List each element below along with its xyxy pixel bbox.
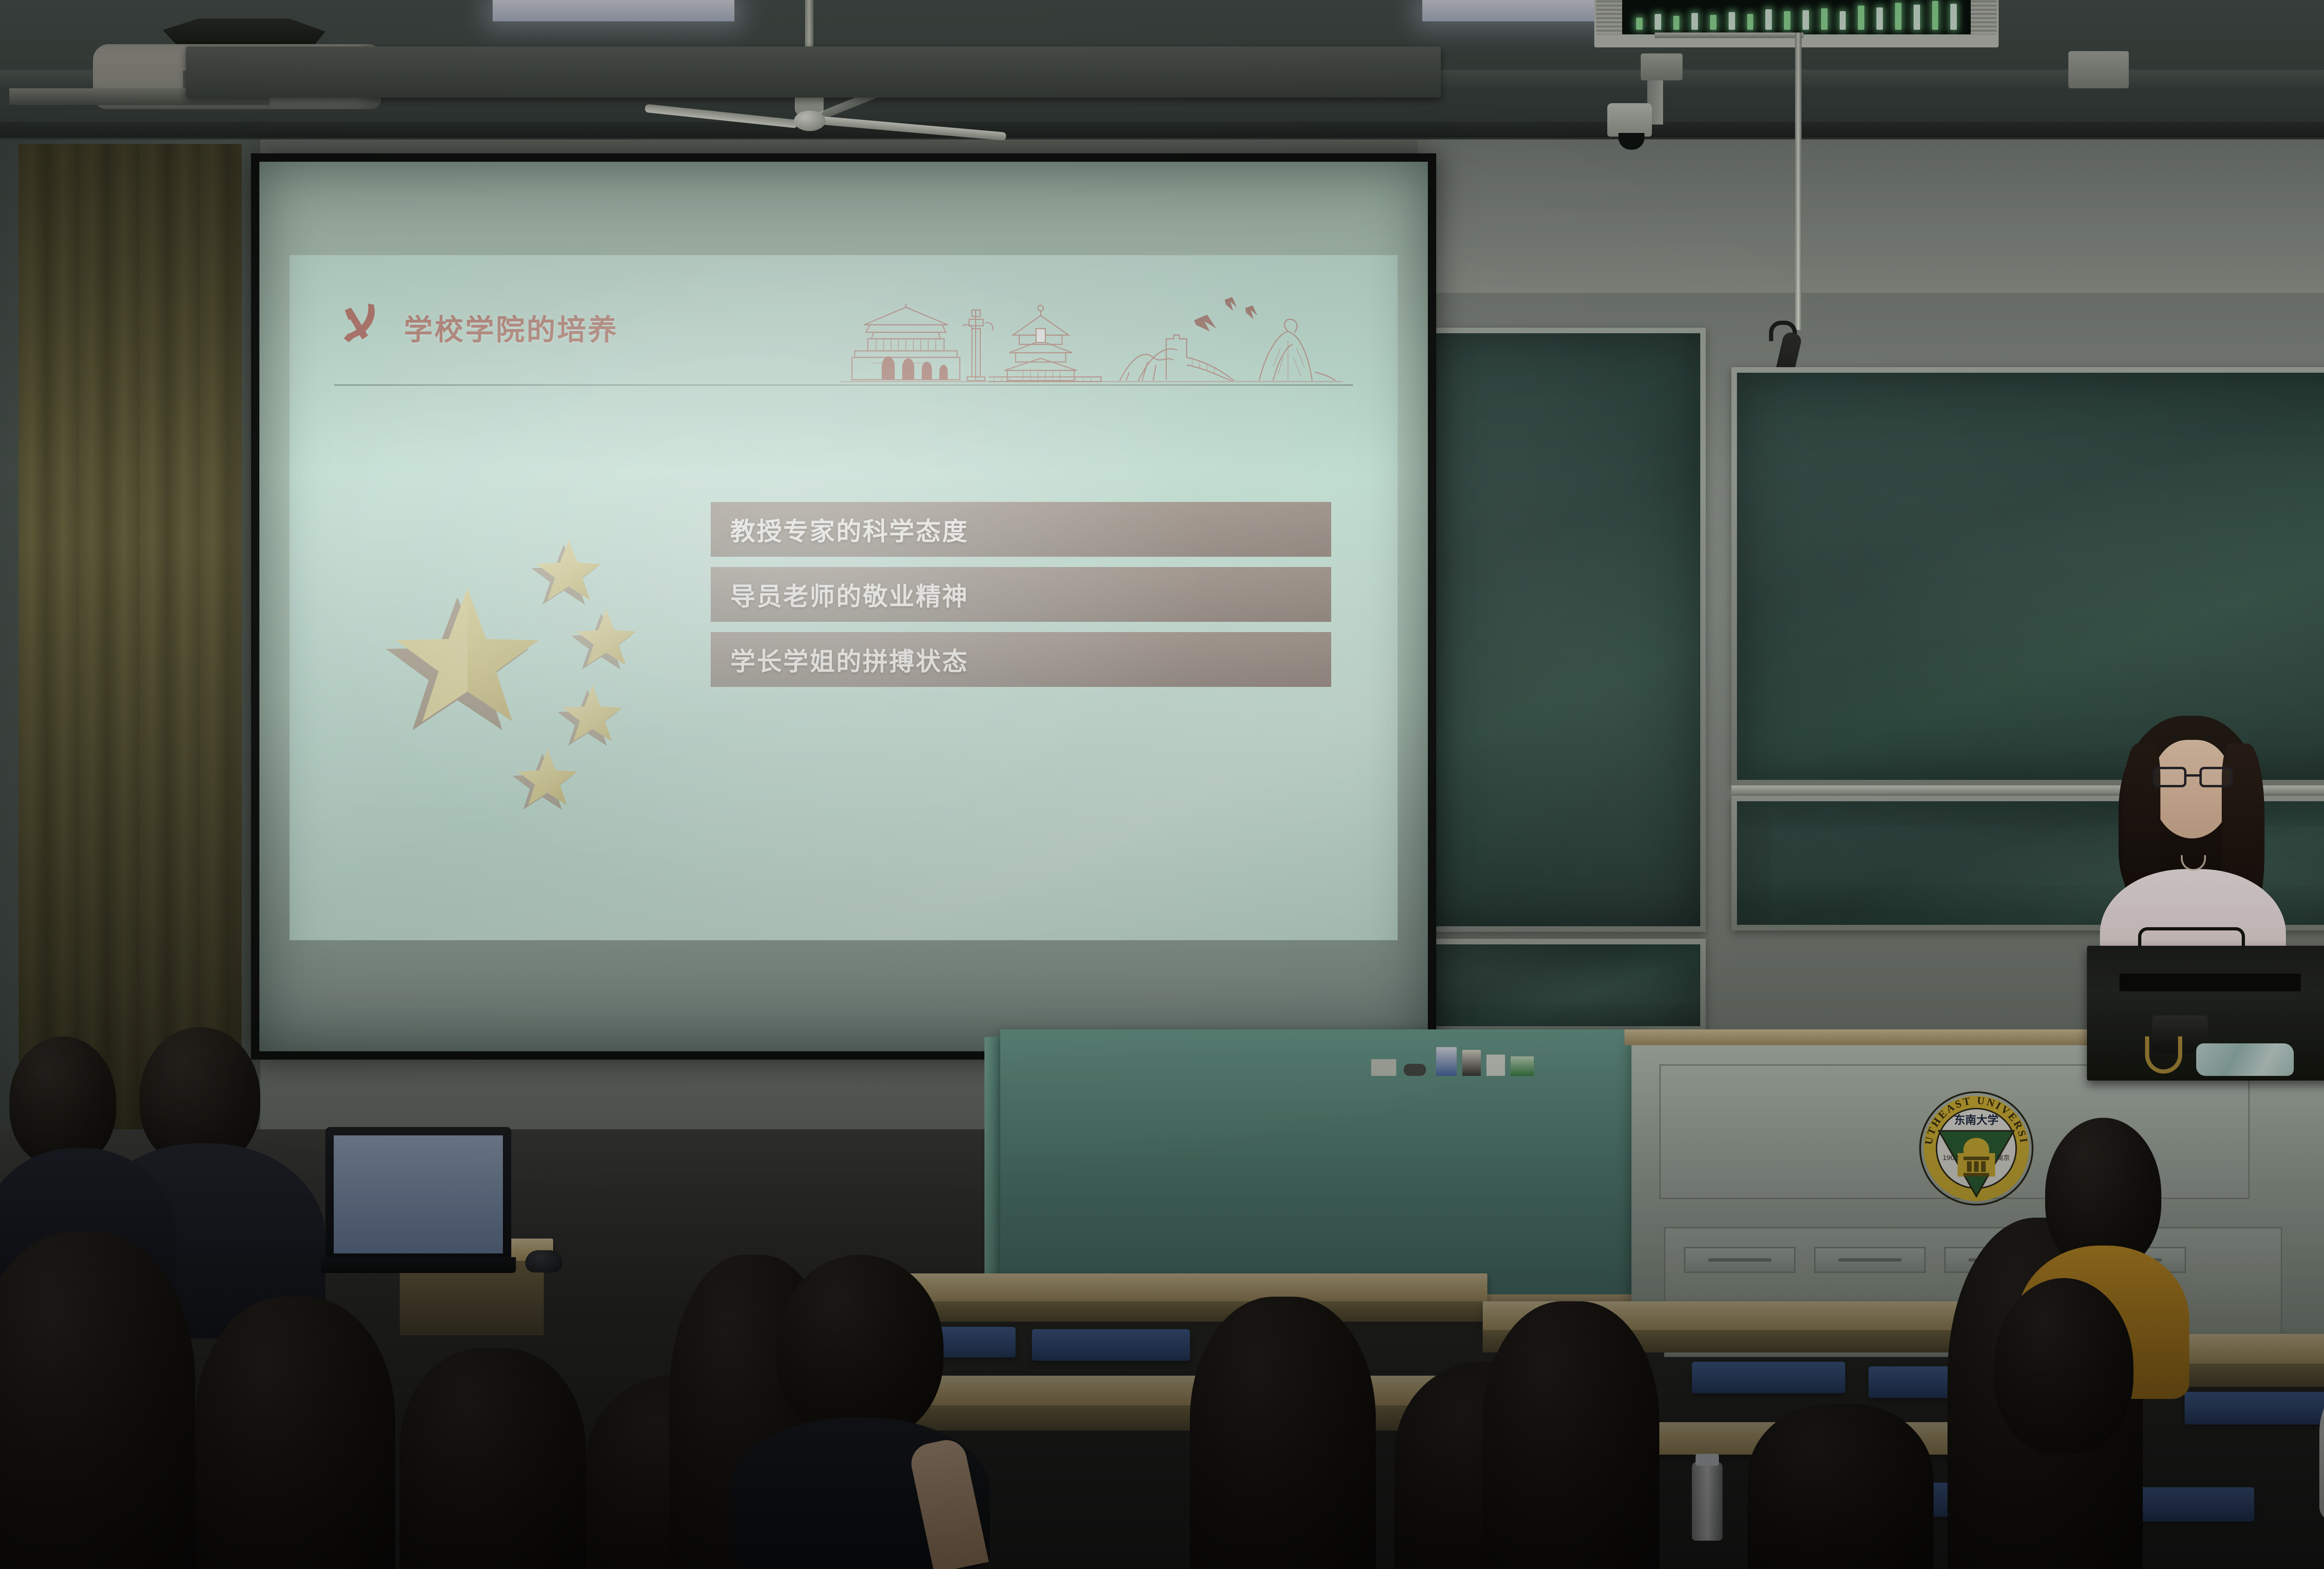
ceiling-pipe-vertical [1795,33,1802,330]
svg-text:南京: 南京 [1997,1154,2010,1162]
chair-back[interactable] [2185,1392,2324,1424]
slide-bullet-text: 导员老师的敬业精神 [711,576,969,613]
audience-person-head [9,1036,116,1167]
blackboard-eraser [1404,1064,1426,1076]
glasses-bridge [2186,774,2199,777]
security-camera-icon [1599,74,1683,149]
slide-bullet-text: 学长学姐的拼搏状态 [711,641,969,678]
led-board-edge [1596,0,1622,34]
audience-person-head [0,1232,195,1569]
slide-bullet-item: 教授专家的科学态度 [711,502,1331,557]
chalk-box [1511,1056,1534,1076]
ceiling-light-fixture [493,0,734,21]
slide-title: 学校学院的培养 [404,306,619,348]
audience-person-head [400,1348,586,1569]
audience-person-head [1190,1297,1376,1569]
beijing-landmarks-illustration [841,292,1343,385]
fan-blade [820,116,1006,141]
bottle-cap[interactable] [1696,1454,1719,1466]
camera-strap [2145,1036,2182,1074]
laptop-screen[interactable] [334,1135,503,1253]
cloth-on-desk [2196,1043,2294,1076]
fan-hub [794,111,825,131]
blackboard-surface [1426,944,1700,1026]
slide-title-divider [334,384,1353,386]
wall-speaker-box [2068,51,2129,88]
led-screen [1622,0,1971,34]
projection-surface: 学校学院的培养 [259,162,1428,1051]
glasses-lens [2199,767,2233,787]
drawer-handle[interactable] [1708,1259,1771,1262]
presentation-slide: 学校学院的培养 [290,255,1397,940]
projector-mount-bracket [163,19,325,47]
lectern-slot [2119,974,2301,991]
student-desk-front [902,1301,1487,1322]
water-bottle[interactable] [1692,1462,1723,1541]
upper-wall-band [1418,139,2324,293]
wall-mount-box [1641,53,1683,80]
camera-housing [1607,103,1652,137]
audience-person-head [1748,1404,1934,1569]
laptop-keyboard[interactable] [321,1257,516,1273]
audience-person-head [1483,1301,1659,1569]
led-board-edge [1971,0,1997,34]
console-drawer[interactable] [1814,1247,1926,1273]
laptop-device[interactable] [325,1127,511,1262]
blackboard-left-lower [1420,939,1706,1032]
console-drawer[interactable] [1684,1247,1796,1273]
slide-bullet-text: 教授专家的科学态度 [711,511,969,547]
lecture-hall-photo: EPSON [0,0,2324,1569]
ledge-supplies [1371,1043,1566,1076]
audience-person-head [776,1255,944,1441]
led-characters [1622,0,1971,34]
slide-bullet-list: 教授专家的科学态度 导员老师的敬业精神 学长学姐的拼搏状态 [711,502,1331,697]
slide-bullet-item: 导员老师的敬业精神 [711,567,1331,622]
svg-text:东南大学: 东南大学 [1954,1114,1999,1127]
presenter-glasses-icon [2153,767,2233,788]
window-curtain [19,144,242,1139]
computer-mouse[interactable] [525,1250,562,1272]
camera-lens [1618,133,1644,150]
projection-screen-case [186,46,1441,98]
cpc-emblem-icon [334,299,383,347]
chair-back[interactable] [1032,1329,1190,1361]
projection-screen: 学校学院的培养 [251,153,1436,1060]
presenter-face [2152,740,2232,838]
chalk-box [1436,1047,1457,1076]
marker-box [1462,1050,1481,1076]
svg-text:1902: 1902 [1943,1154,1959,1162]
glasses-lens [2153,767,2186,787]
southeast-university-emblem-icon: 东南大学 1902 南京 SOUTHEAST UNIVERSITY [1918,1090,2035,1207]
chinese-flag-stars [367,529,655,817]
drawer-handle[interactable] [1838,1259,1901,1262]
student-desk [902,1273,1487,1302]
blackboard-left-panel [1420,328,1706,932]
ceiling-pipe-horizontal [1655,33,1803,38]
chalk-box [1371,1059,1396,1076]
slide-bullet-item: 学长学姐的拼搏状态 [711,632,1331,687]
chalk-box [1486,1055,1505,1076]
slide-header: 学校学院的培养 [334,296,1353,447]
audience-person-head [1994,1278,2133,1455]
audience-person-head [195,1297,395,1569]
chair-back[interactable] [1692,1362,1845,1393]
blackboard-surface [1426,333,1700,926]
